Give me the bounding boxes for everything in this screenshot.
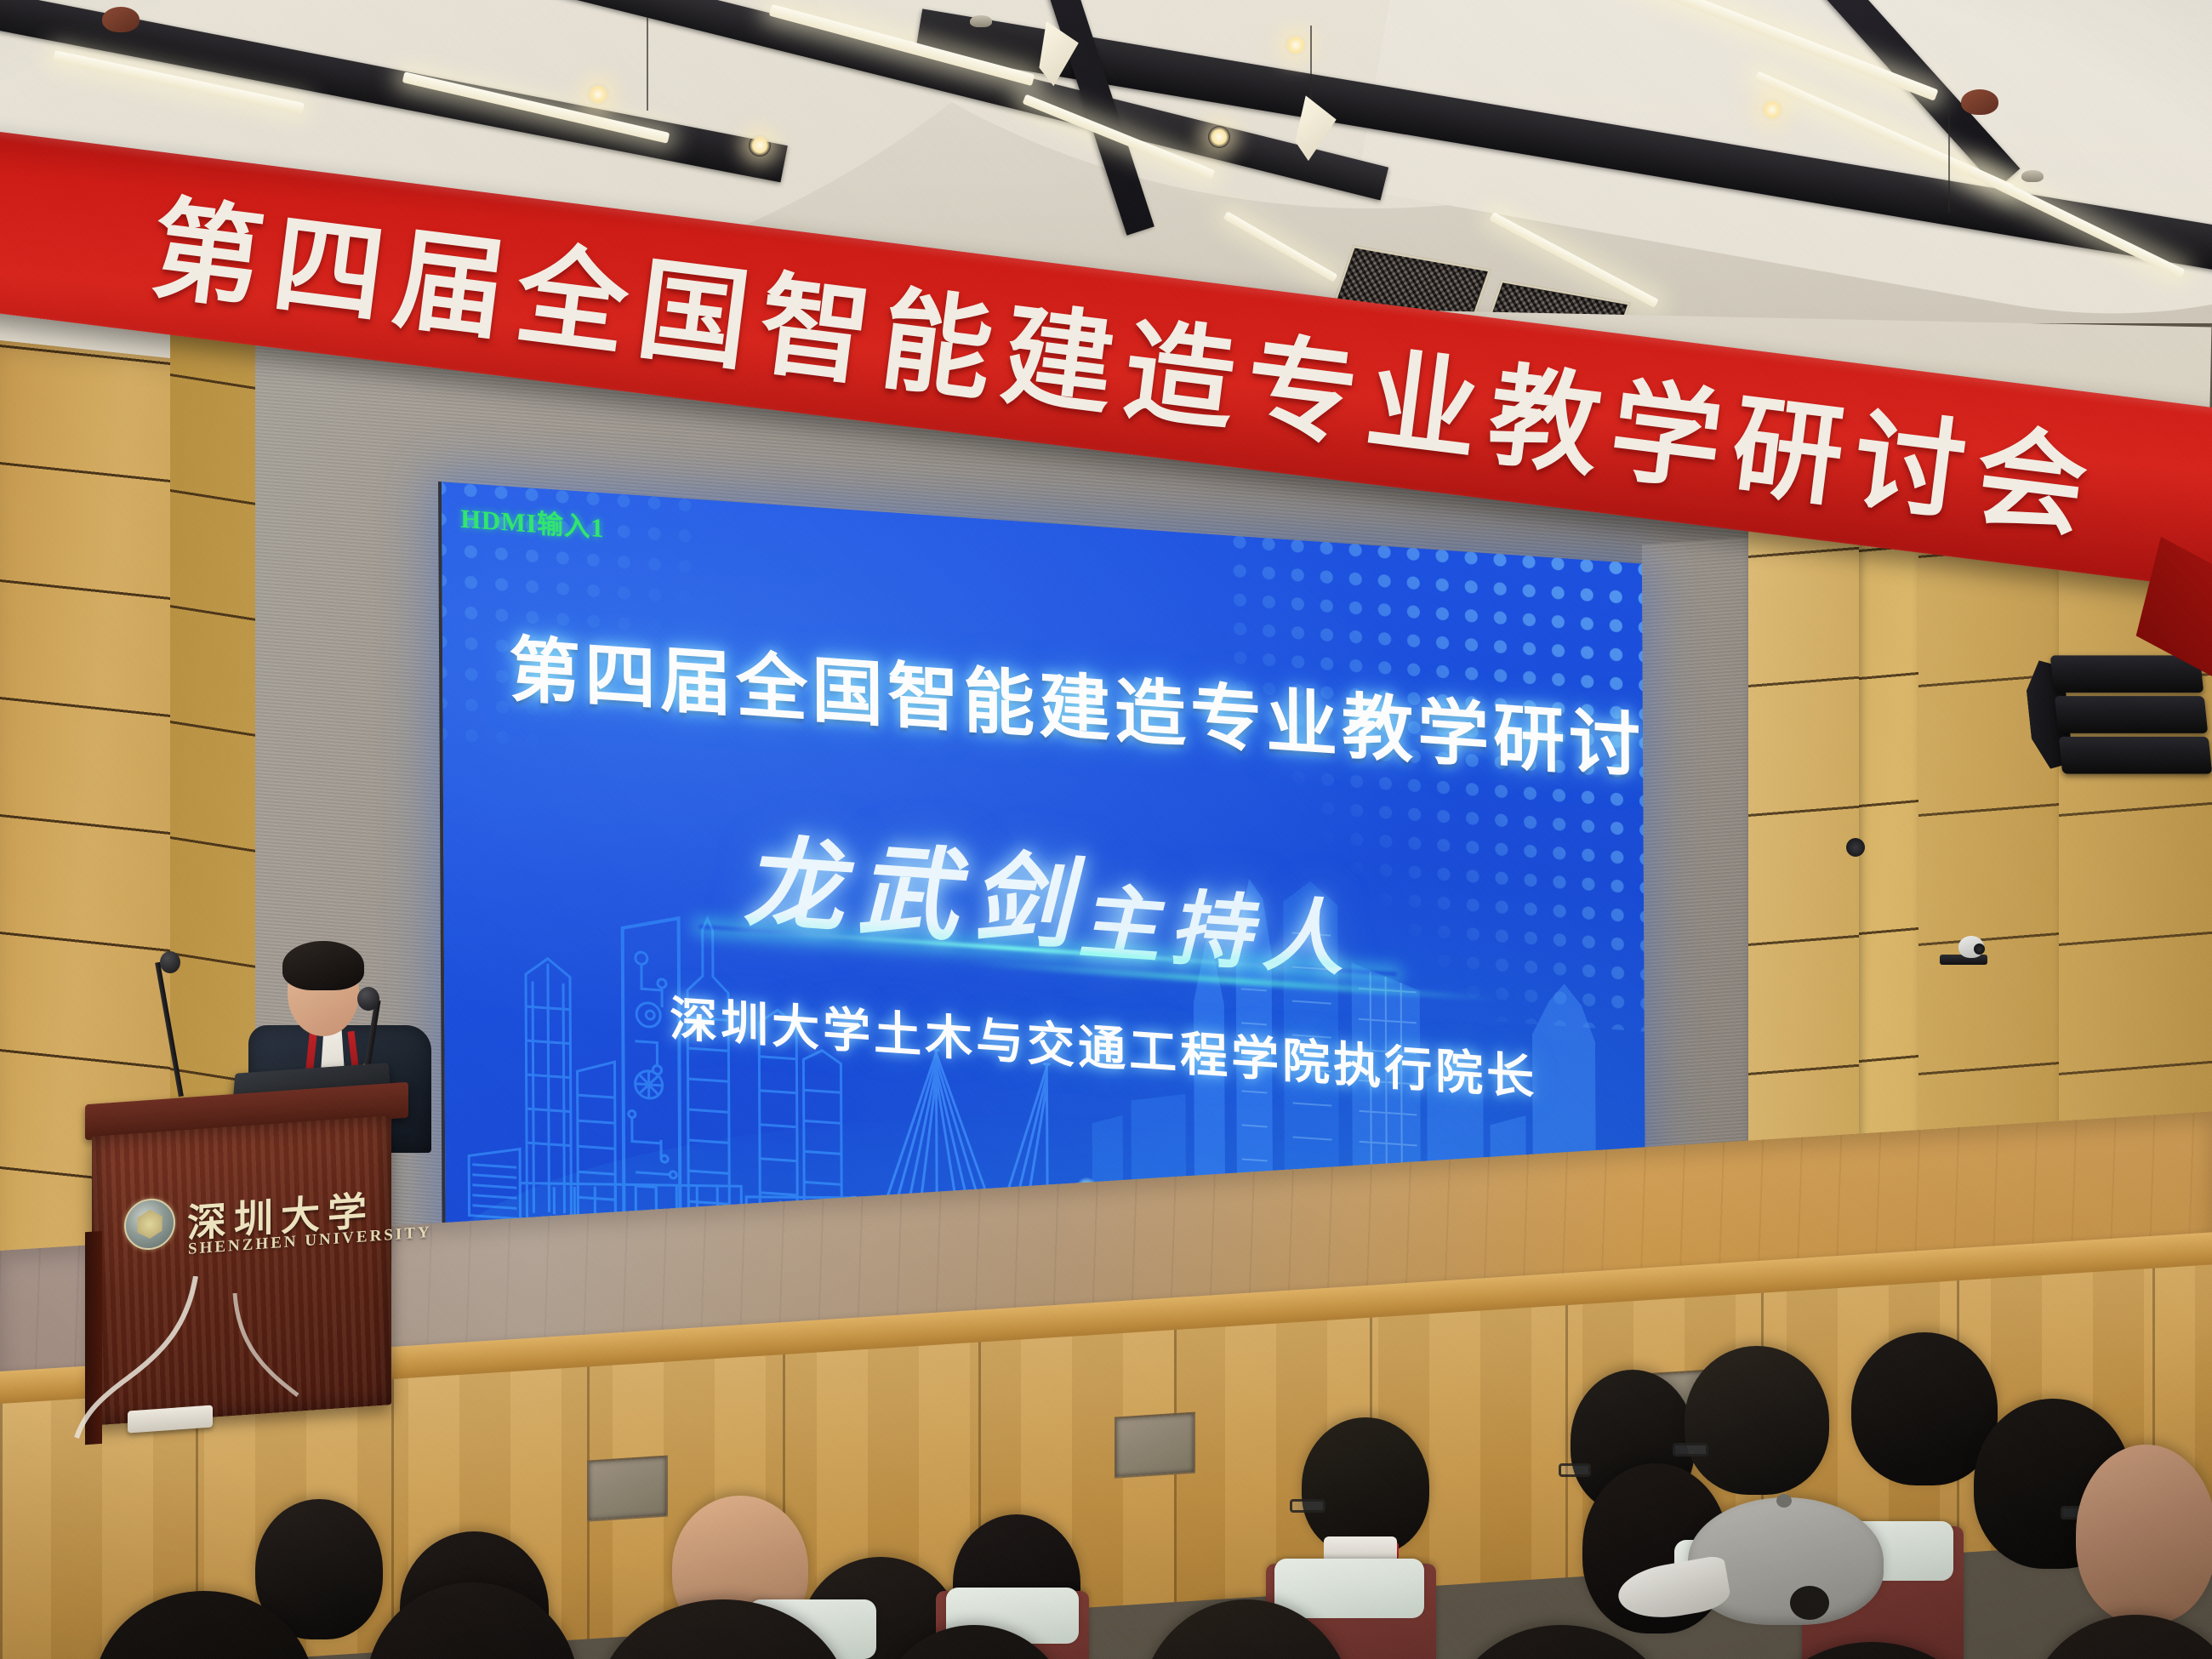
line-array-speaker-icon <box>2050 655 2212 782</box>
ceiling-mount-cap <box>102 7 140 32</box>
cap-button <box>1776 1494 1792 1508</box>
suspension-wire <box>647 17 648 111</box>
audience-head <box>2076 1445 2212 1623</box>
microphone-capsule <box>357 987 379 1011</box>
eyeglasses-icon <box>1290 1499 1325 1513</box>
cap-back-opening <box>1790 1586 1829 1620</box>
ceiling-spotlight-icon <box>1761 99 1783 121</box>
speaker-module <box>2050 655 2204 693</box>
smoke-detector-icon <box>2021 170 2044 182</box>
speaker-module <box>2055 696 2209 733</box>
university-seal-icon <box>124 1197 175 1251</box>
audience-area <box>0 1344 2212 1659</box>
audience-head <box>2025 1615 2212 1659</box>
smoke-detector-icon <box>970 15 992 27</box>
camera-lens-icon <box>1974 944 1985 955</box>
slide-speaker-role: 主持人 <box>1077 855 1354 992</box>
ceiling-mount-cap <box>1961 89 1998 115</box>
speaker-module <box>2059 737 2212 774</box>
microphone-capsule <box>160 951 180 973</box>
audience-head <box>1302 1417 1429 1555</box>
linear-light-strip-icon <box>1223 211 1338 282</box>
ceiling-spotlight-icon <box>749 134 771 157</box>
suspension-wire <box>1948 111 1950 213</box>
eyeglasses-icon <box>1673 1443 1708 1457</box>
wall-mounted-sensor-icon <box>1846 838 1865 857</box>
baseball-cap-icon <box>1688 1497 1884 1625</box>
eyeglasses-icon <box>1559 1463 1591 1477</box>
conference-hall-photo: HDMI输入1 <box>0 0 2212 1659</box>
seat-headrest <box>1274 1559 1424 1618</box>
ptz-camera-icon[interactable] <box>1940 936 1987 970</box>
seal-inner <box>135 1209 164 1240</box>
audience-head <box>1685 1346 1829 1495</box>
ceiling-spotlight-icon <box>587 83 609 105</box>
ceiling-spotlight-icon <box>1285 34 1307 56</box>
ceiling-spotlight-icon <box>1208 126 1230 148</box>
presenter-hair <box>282 941 364 990</box>
